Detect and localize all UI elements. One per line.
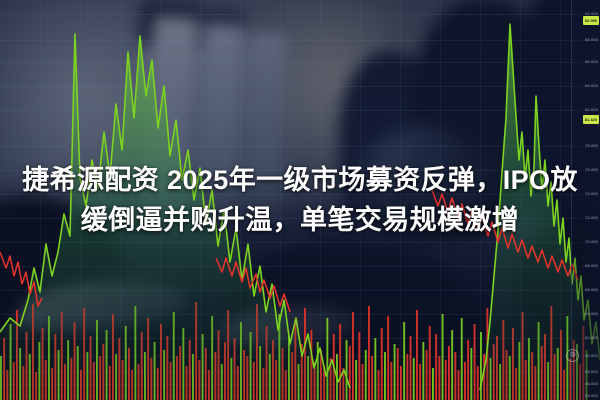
volume-bar (464, 362, 466, 400)
volume-bar (390, 362, 392, 400)
watermark-icon: ◍ (566, 349, 579, 362)
volume-bar (451, 330, 453, 400)
headline-line-1: 捷希源配资 2025年一级市场募资反弹，IPO放 (14, 160, 586, 200)
headline-line-2: 缓倒逼并购升温，单笔交易规模激增 (14, 200, 586, 240)
volume-bar (467, 340, 469, 400)
volume-bar (442, 314, 444, 400)
volume-bar (410, 336, 412, 400)
volume-bar (438, 356, 440, 400)
volume-bar (406, 354, 408, 400)
volume-bar (374, 338, 376, 400)
volume-bar (432, 368, 434, 400)
price-highlight-tag[interactable]: 81.420 (583, 115, 599, 124)
volume-bar (403, 322, 405, 400)
volume-bar (445, 360, 447, 400)
volume-bar (422, 342, 424, 400)
volume-bar (448, 346, 450, 400)
price-axis-tick: 56.000 (585, 381, 598, 386)
price-axis-tick: 54.000 (585, 393, 598, 398)
volume-bar (381, 328, 383, 400)
price-axis-tick: 66.000 (585, 287, 598, 292)
volume-bar (429, 326, 431, 400)
volume-bar (435, 334, 437, 400)
volume-bar (397, 348, 399, 400)
banner-stage: 92.00088.00086.00084.00082.00078.00076.0… (0, 0, 600, 400)
price-axis-tick: 86.000 (585, 59, 598, 64)
price-axis-tick: 58.000 (585, 369, 598, 374)
volume-bar (355, 360, 357, 400)
volume-bar (419, 364, 421, 400)
price-axis-tick: 68.000 (585, 263, 598, 268)
volume-bar (413, 358, 415, 400)
volume-bar (368, 306, 370, 400)
volume-bar (477, 366, 479, 400)
volume-bar (470, 348, 472, 400)
volume-bar (394, 344, 396, 400)
price-highlight-tag[interactable]: 92.050 (583, 16, 599, 25)
volume-bar (384, 352, 386, 400)
price-axis-tick: 78.000 (585, 143, 598, 148)
volume-bar (365, 350, 367, 400)
price-axis-tick: 64.000 (585, 311, 598, 316)
volume-bar (352, 312, 354, 400)
price-axis-tick: 88.000 (585, 37, 598, 42)
volume-bar (454, 352, 456, 400)
volume-bar (371, 356, 373, 400)
volume-bar (461, 318, 463, 400)
price-axis-tick: 60.000 (585, 353, 598, 358)
volume-bar (400, 366, 402, 400)
volume-bar (416, 310, 418, 400)
volume-bar (458, 370, 460, 400)
volume-bar (362, 364, 364, 400)
volume-bar (474, 324, 476, 400)
volume-bar (387, 316, 389, 400)
volume-bar (358, 332, 360, 400)
price-axis-tick: 82.000 (585, 107, 598, 112)
volume-bar (426, 350, 428, 400)
page-title: 捷希源配资 2025年一级市场募资反弹，IPO放 缓倒逼并购升温，单笔交易规模激… (0, 160, 600, 240)
volume-bar (378, 370, 380, 400)
price-axis-tick: 84.000 (585, 83, 598, 88)
price-axis-tick: 62.000 (585, 335, 598, 340)
